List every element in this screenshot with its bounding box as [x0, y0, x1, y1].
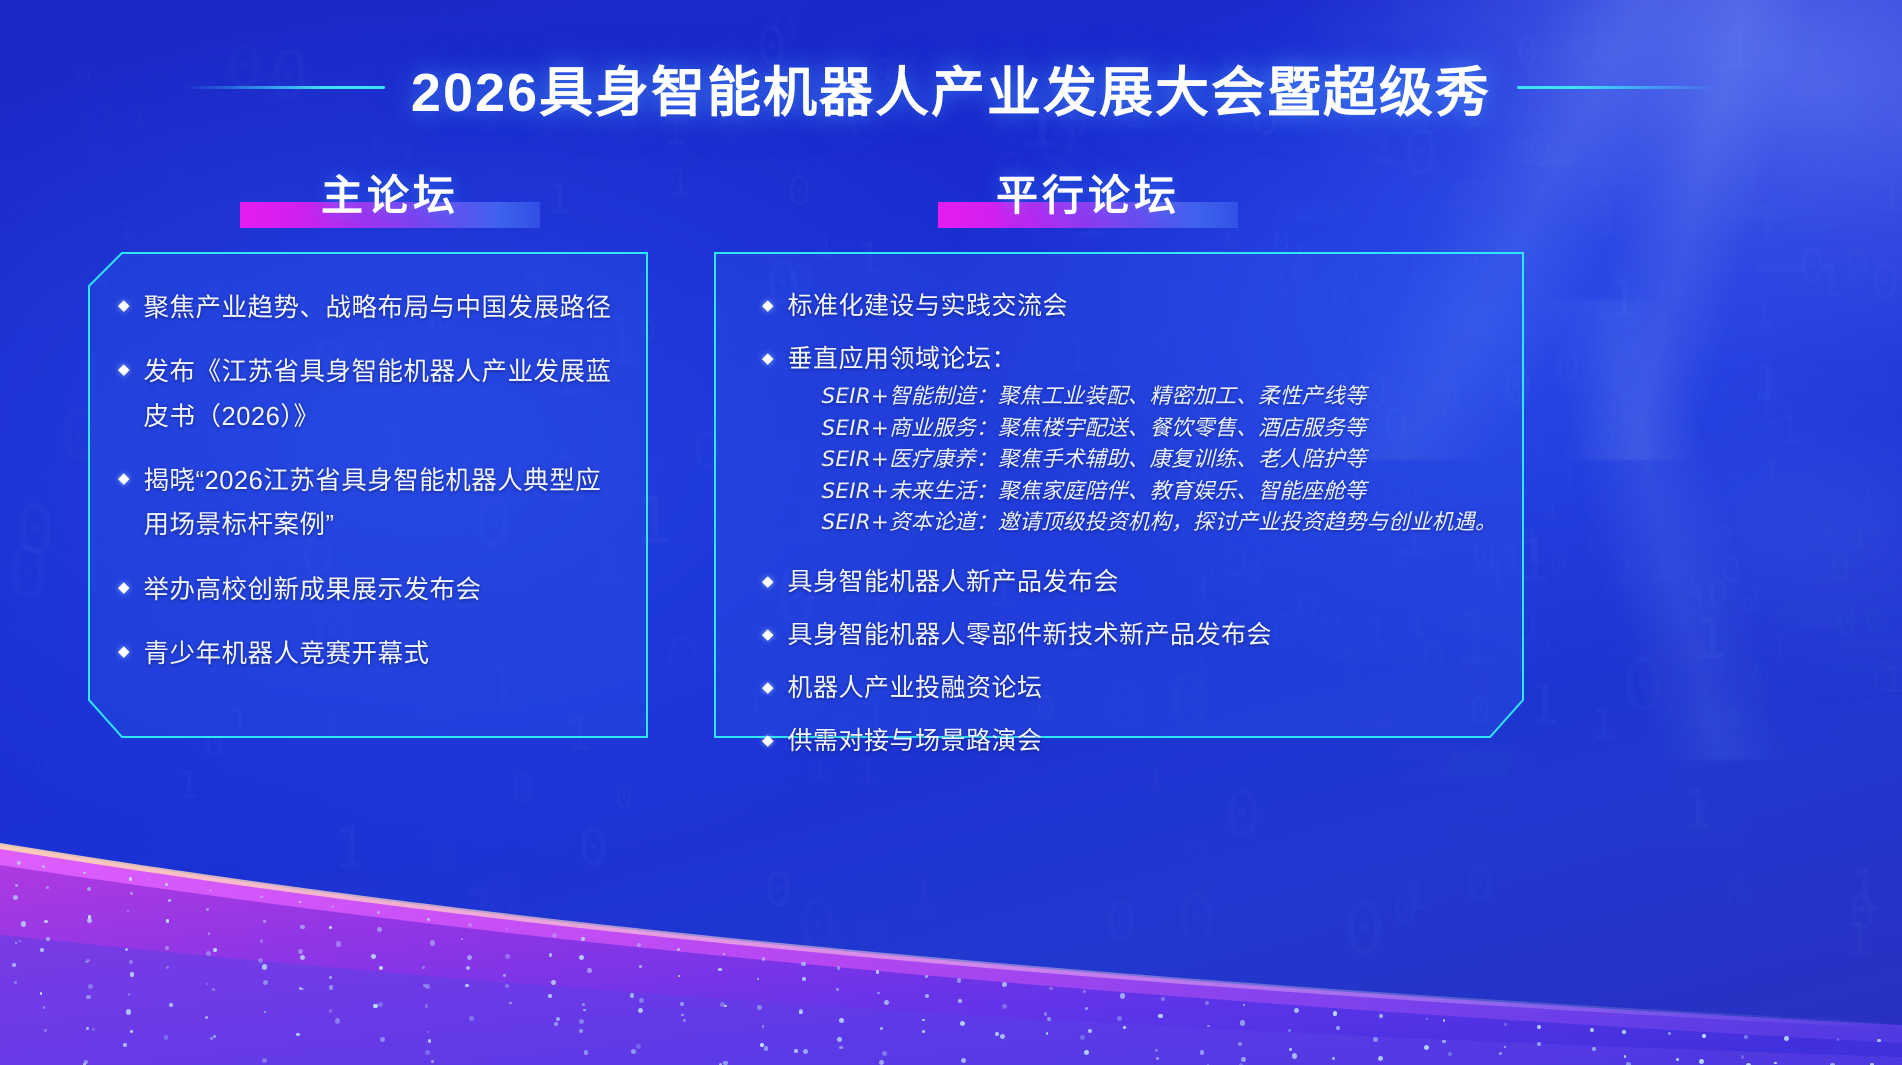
- page-title: 2026具身智能机器人产业发展大会暨超级秀: [411, 48, 1491, 127]
- sub-item-text: SEIR+未来生活：聚焦家庭陪伴、教育娱乐、智能座舱等: [822, 476, 1497, 508]
- diamond-bullet-icon: ◆: [762, 733, 774, 748]
- sub-item-text: SEIR+资本论道：邀请顶级投资机构，探讨产业投资趋势与创业机遇。: [822, 507, 1497, 539]
- bullet-list-parallel-forum: ◆标准化建设与实践交流会◆垂直应用领域论坛：SEIR+智能制造：聚焦工业装配、精…: [762, 286, 1502, 774]
- bullet-text: 具身智能机器人新产品发布会: [788, 562, 1120, 602]
- diamond-bullet-icon: ◆: [762, 680, 774, 695]
- bullet-item: ◆标准化建设与实践交流会: [762, 286, 1502, 326]
- bullet-item: ◆具身智能机器人新产品发布会: [762, 562, 1502, 602]
- particle-dots: [0, 725, 1902, 1065]
- sub-item-list: SEIR+智能制造：聚焦工业装配、精密加工、柔性产线等SEIR+商业服务：聚焦楼…: [822, 381, 1497, 539]
- bullet-item: ◆垂直应用领域论坛：SEIR+智能制造：聚焦工业装配、精密加工、柔性产线等SEI…: [762, 339, 1502, 549]
- heading-label-parallel-forum: 平行论坛: [938, 160, 1238, 232]
- sub-item-text: SEIR+商业服务：聚焦楼宇配送、餐饮零售、酒店服务等: [822, 413, 1497, 445]
- diamond-bullet-icon: ◆: [762, 627, 774, 642]
- diamond-bullet-icon: ◆: [762, 574, 774, 589]
- bullet-item: ◆举办高校创新成果展示发布会: [118, 568, 618, 612]
- bullet-item: ◆聚焦产业趋势、战略布局与中国发展路径: [118, 286, 618, 330]
- bullet-text: 具身智能机器人零部件新技术新产品发布会: [788, 615, 1273, 655]
- title-rule-right: [1517, 86, 1717, 89]
- bullet-text: 垂直应用领域论坛：: [788, 339, 1497, 379]
- bullet-text: 举办高校创新成果展示发布会: [144, 568, 482, 612]
- bullet-text: 揭晓“2026江苏省具身智能机器人典型应用场景标杆案例”: [144, 459, 618, 548]
- bullet-text: 标准化建设与实践交流会: [788, 286, 1069, 326]
- title-rule-left: [185, 86, 385, 89]
- diamond-bullet-icon: ◆: [118, 471, 130, 486]
- section-heading-parallel-forum: 平行论坛: [938, 160, 1238, 232]
- bullet-text: 聚焦产业趋势、战略布局与中国发展路径: [144, 286, 612, 330]
- diamond-bullet-icon: ◆: [118, 362, 130, 377]
- bullet-text: 机器人产业投融资论坛: [788, 668, 1043, 708]
- bullet-item: ◆发布《江苏省具身智能机器人产业发展蓝皮书（2026）》: [118, 350, 618, 439]
- bottom-wave-decoration: [0, 725, 1902, 1065]
- diamond-bullet-icon: ◆: [118, 644, 130, 659]
- bullet-item: ◆青少年机器人竞赛开幕式: [118, 632, 618, 676]
- sub-item-text: SEIR+智能制造：聚焦工业装配、精密加工、柔性产线等: [822, 381, 1497, 413]
- diamond-bullet-icon: ◆: [762, 351, 774, 366]
- page-title-row: 2026具身智能机器人产业发展大会暨超级秀: [0, 52, 1902, 122]
- heading-label-main-forum: 主论坛: [240, 160, 540, 232]
- bullet-text: 发布《江苏省具身智能机器人产业发展蓝皮书（2026）》: [144, 350, 618, 439]
- sub-item-text: SEIR+医疗康养：聚焦手术辅助、康复训练、老人陪护等: [822, 444, 1497, 476]
- diamond-bullet-icon: ◆: [118, 298, 130, 313]
- bullet-text: 供需对接与场景路演会: [788, 721, 1043, 761]
- bullet-item: ◆揭晓“2026江苏省具身智能机器人典型应用场景标杆案例”: [118, 459, 618, 548]
- bullet-item: ◆机器人产业投融资论坛: [762, 668, 1502, 708]
- bullet-text: 青少年机器人竞赛开幕式: [144, 632, 430, 676]
- section-heading-main-forum: 主论坛: [240, 160, 540, 232]
- diamond-bullet-icon: ◆: [118, 580, 130, 595]
- bullet-list-main-forum: ◆聚焦产业趋势、战略布局与中国发展路径◆发布《江苏省具身智能机器人产业发展蓝皮书…: [118, 286, 618, 697]
- bullet-item: ◆供需对接与场景路演会: [762, 721, 1502, 761]
- bullet-item: ◆具身智能机器人零部件新技术新产品发布会: [762, 615, 1502, 655]
- diamond-bullet-icon: ◆: [762, 298, 774, 313]
